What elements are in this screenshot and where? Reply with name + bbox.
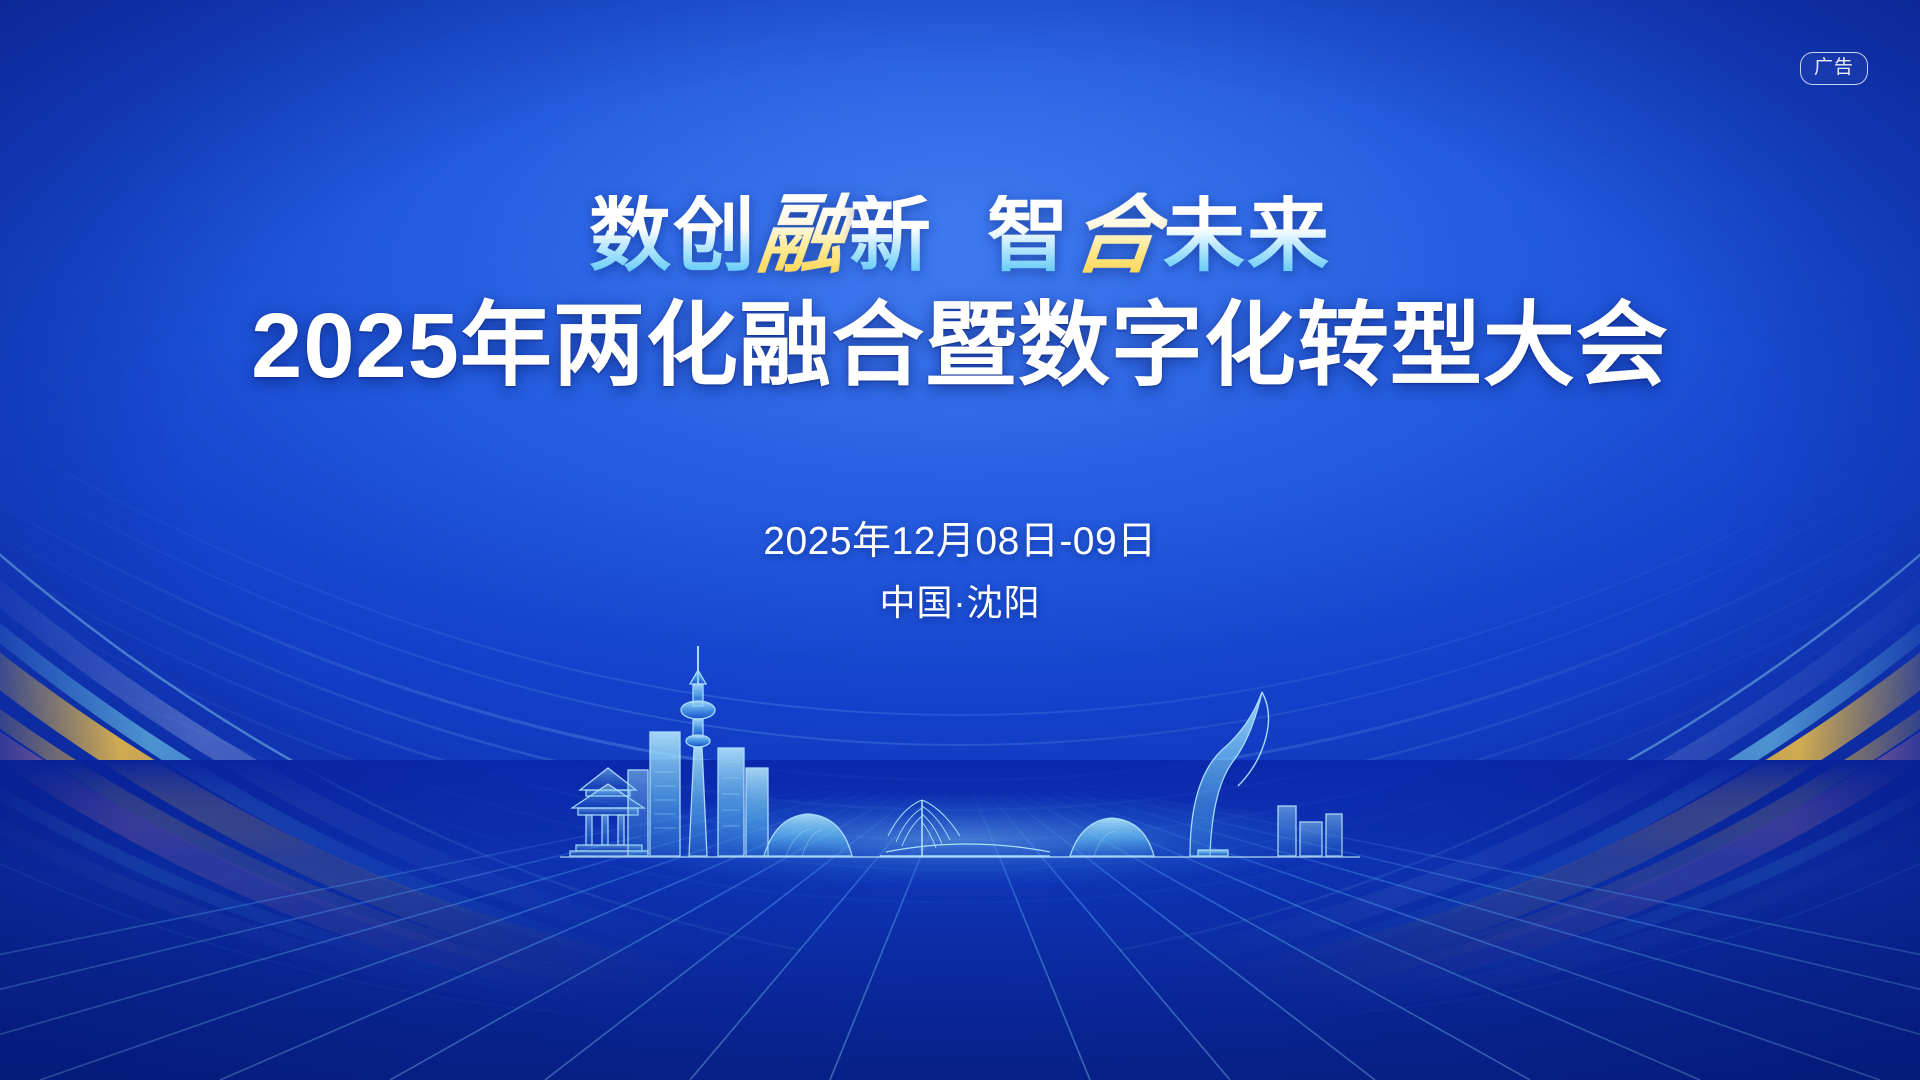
slogan-part-5-brush: 合 xyxy=(1064,193,1171,280)
event-date: 2025年12月08日-09日 xyxy=(0,514,1920,571)
slogan-part-2-brush: 融 xyxy=(750,193,857,280)
skyline-glow xyxy=(580,794,1340,884)
perspective-grid-floor xyxy=(0,760,1920,1080)
slogan-part-4: 智 xyxy=(987,195,1071,277)
slogan-part-1: 数创 xyxy=(589,195,757,277)
slogan-part-3: 新 xyxy=(849,195,933,277)
event-location: 中国·沈阳 xyxy=(0,577,1920,629)
event-slogan: 数创 融 新 智 合 未来 xyxy=(0,195,1920,277)
event-title: 2025年两化融合暨数字化转型大会 xyxy=(0,297,1920,396)
floor-fade-overlay xyxy=(0,760,1920,880)
city-skyline xyxy=(550,640,1370,870)
poster-content: 数创 融 新 智 合 未来 2025年两化融合暨数字化转型大会 2025年12月… xyxy=(0,0,1920,629)
event-meta: 2025年12月08日-09日 中国·沈阳 xyxy=(0,514,1920,629)
slogan-part-6: 未来 xyxy=(1163,195,1331,277)
poster-canvas: 广告 数创 融 新 智 合 未来 2025年两化融合暨数字化转型大会 2025年… xyxy=(0,0,1920,1080)
